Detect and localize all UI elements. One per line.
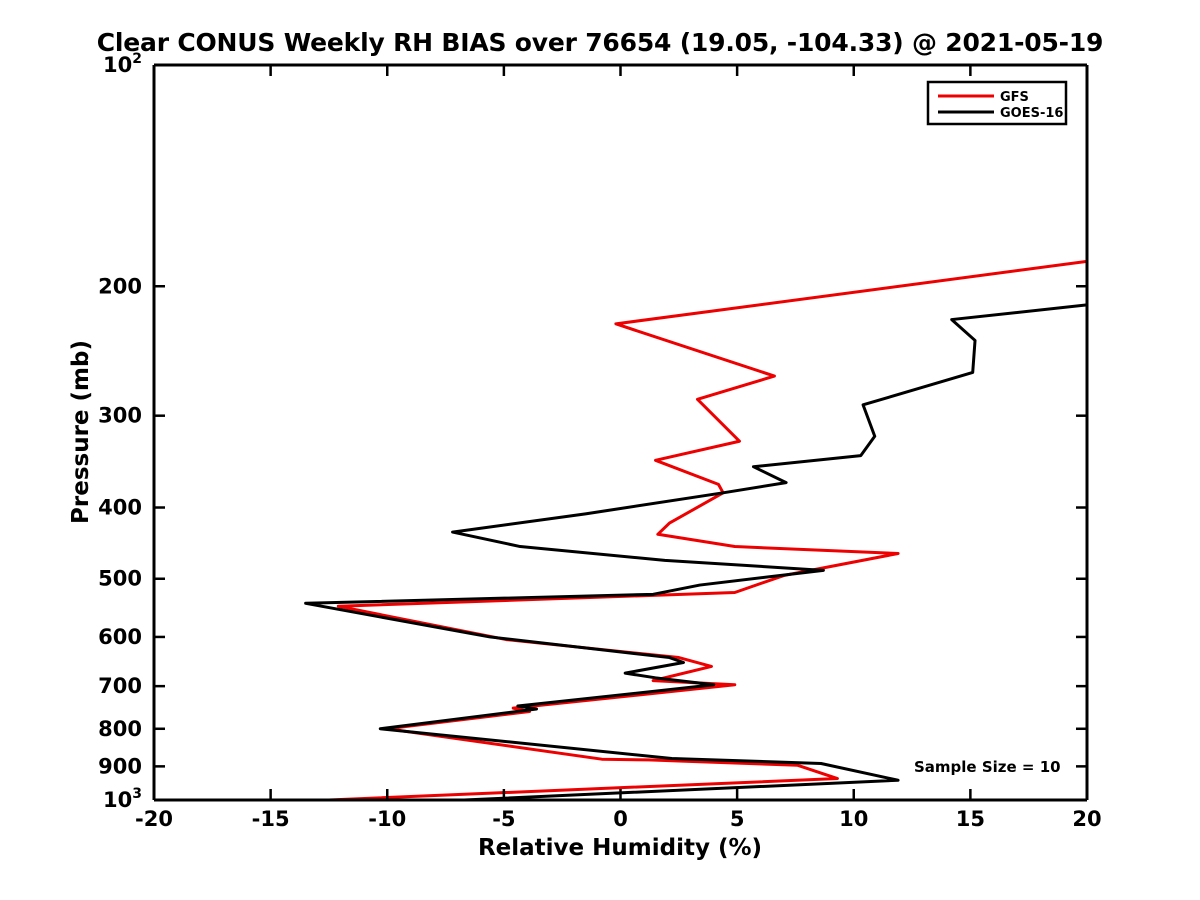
sample-size-annotation: Sample Size = 10 (914, 758, 1061, 776)
x-axis-title: Relative Humidity (%) (478, 835, 762, 861)
y-tick-label: 700 (98, 674, 142, 698)
x-tick-label: 0 (613, 807, 628, 831)
x-tick-label: 15 (956, 807, 985, 831)
y-tick-label: 600 (98, 625, 142, 649)
x-tick-label: 10 (839, 807, 868, 831)
x-tick-label: -5 (492, 807, 515, 831)
legend-label-gfs: GFS (1000, 90, 1029, 105)
x-tick-label: 5 (730, 807, 745, 831)
y-axis-title: Pressure (mb) (68, 340, 94, 524)
y-tick-label: 200 (98, 274, 142, 298)
chart-figure: Clear CONUS Weekly RH BIAS over 76654 (1… (0, 0, 1200, 900)
y-tick-label: 102 (103, 51, 142, 77)
plot-canvas: -20-15-10-505101520102200300400500600700… (0, 0, 1200, 900)
legend[interactable]: GFS GOES-16 (928, 82, 1066, 124)
y-tick-label: 300 (98, 404, 142, 428)
x-tick-label: 20 (1072, 807, 1101, 831)
plot-background (154, 65, 1087, 800)
x-tick-label: -15 (252, 807, 290, 831)
legend-label-goes16: GOES-16 (1000, 106, 1063, 121)
x-tick-label: -10 (368, 807, 406, 831)
y-tick-label: 500 (98, 567, 142, 591)
y-tick-label: 800 (98, 717, 142, 741)
y-tick-label: 900 (98, 754, 142, 778)
y-tick-label: 400 (98, 496, 142, 520)
x-tick-label: -20 (135, 807, 173, 831)
